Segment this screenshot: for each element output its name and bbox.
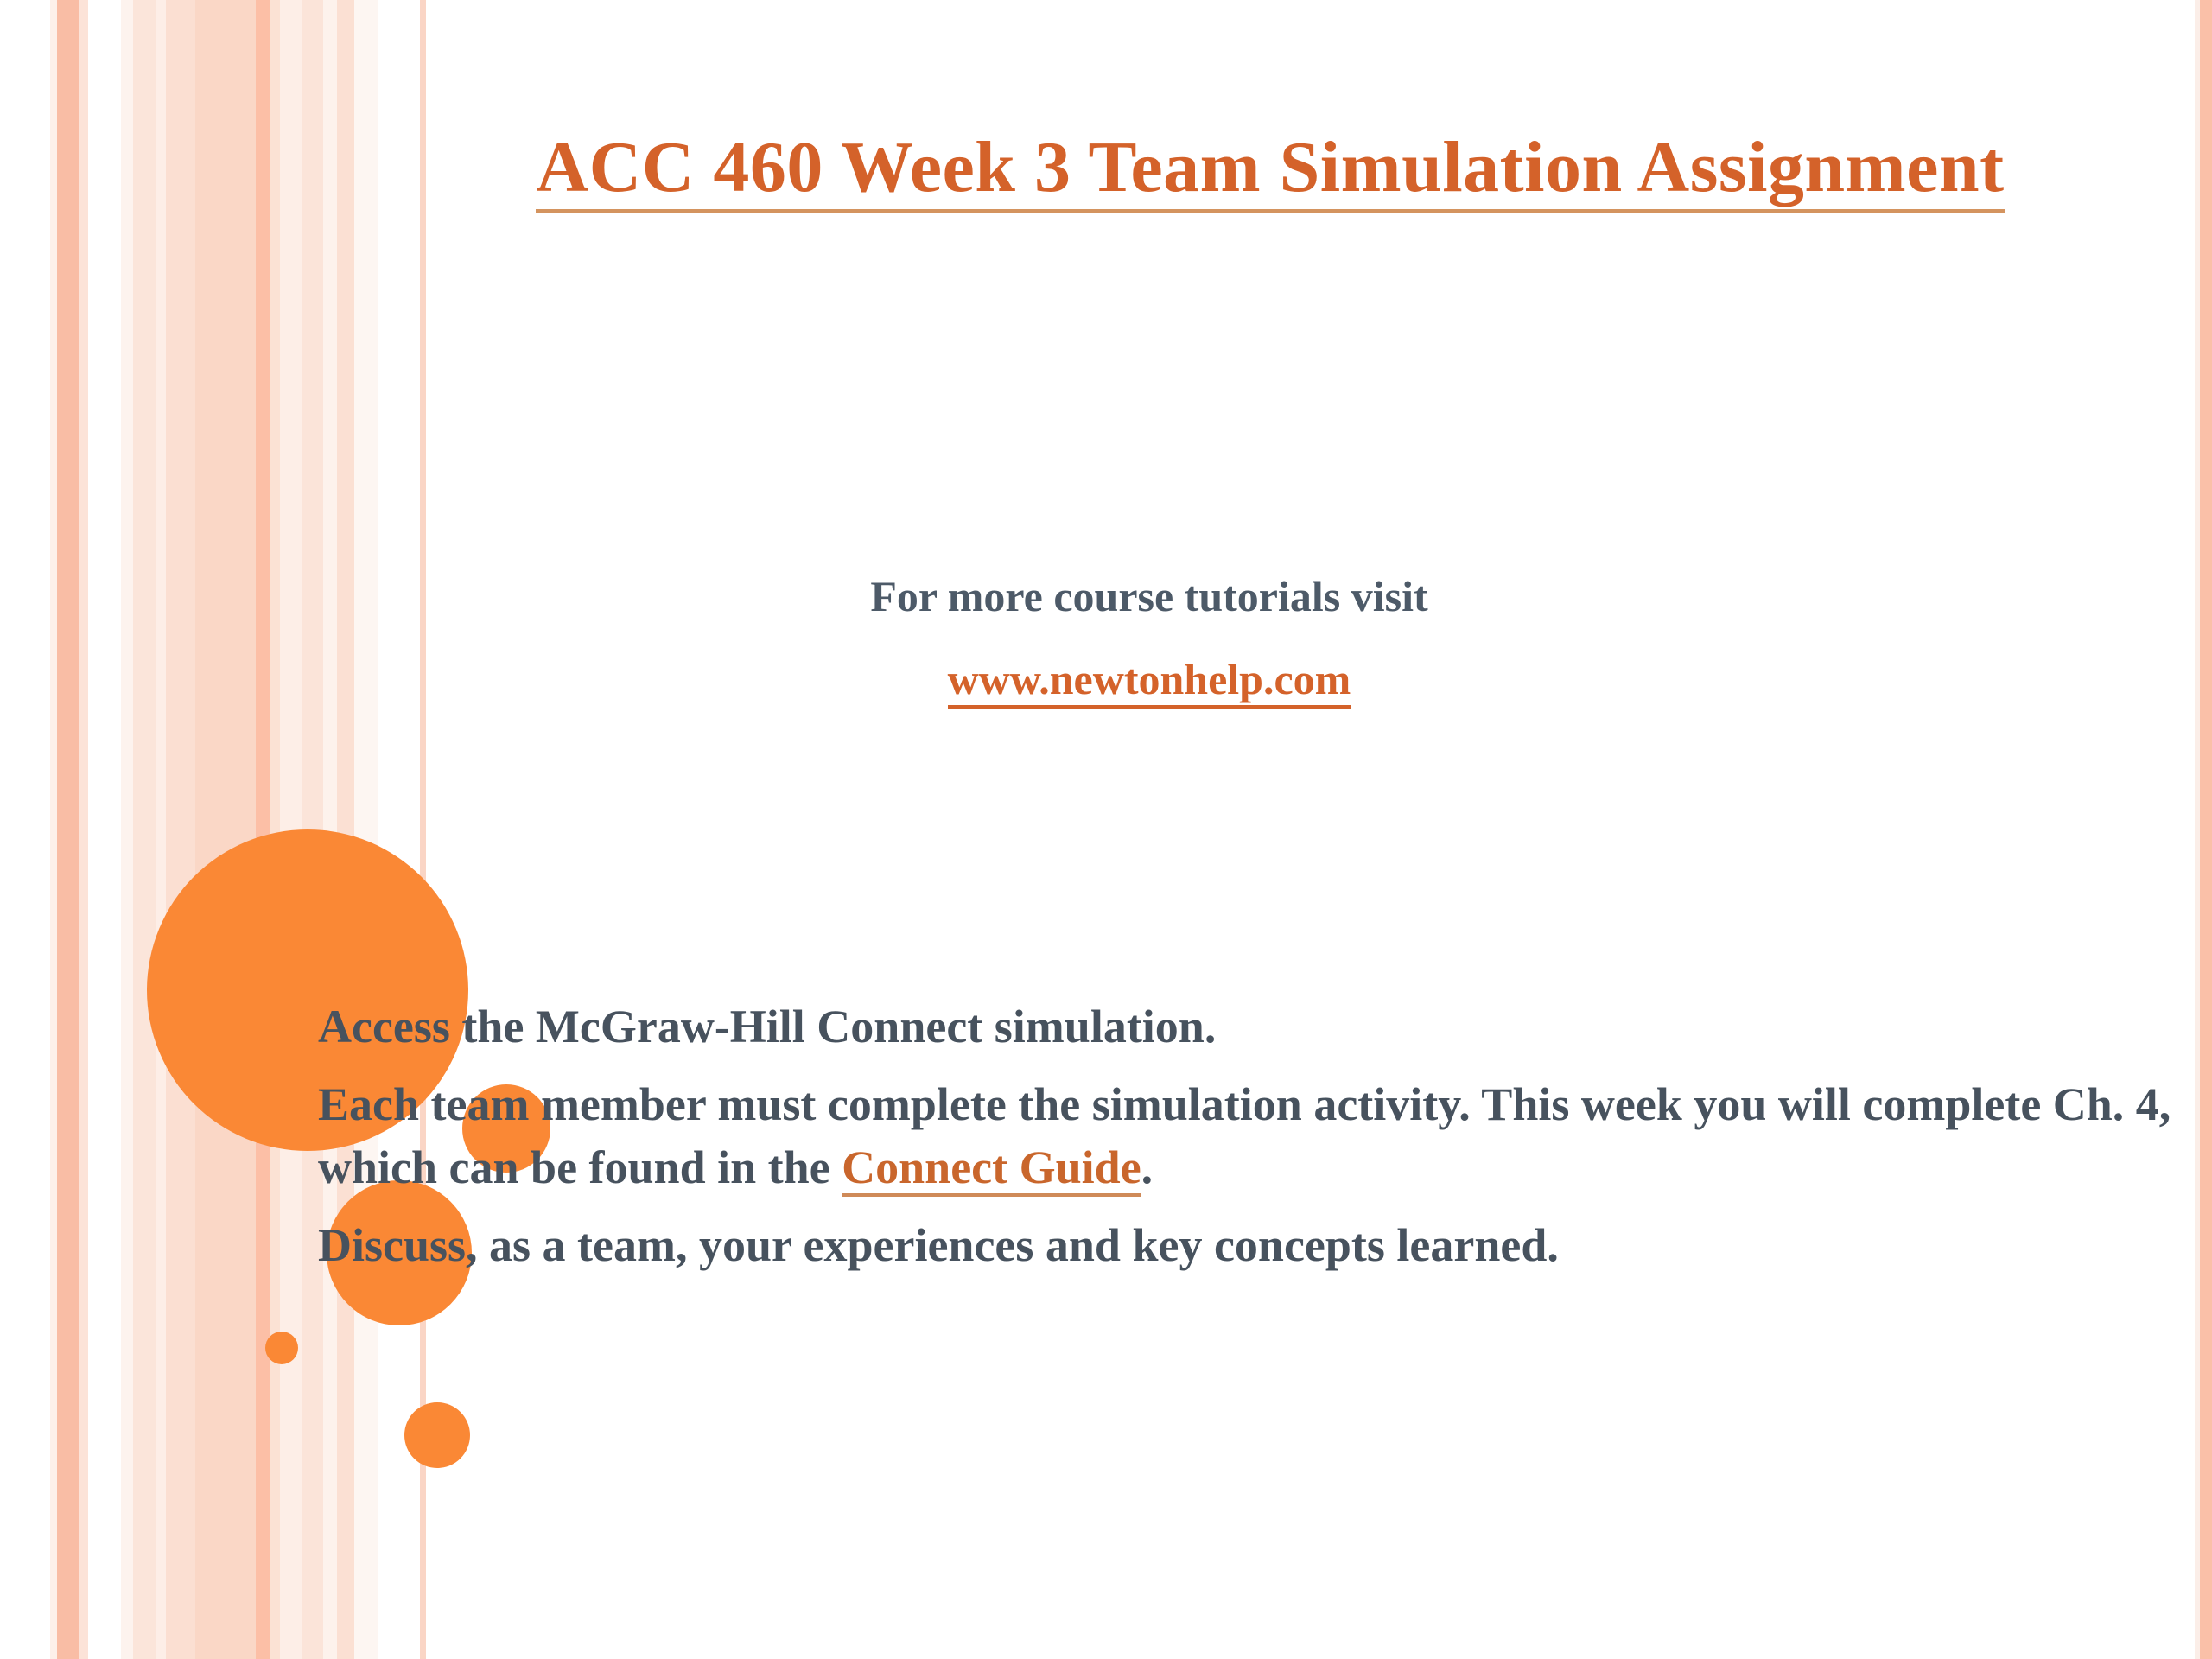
stripe-7 xyxy=(156,0,166,1659)
bullet-each-team-member-text: Each team member must complete the simul… xyxy=(318,1078,2171,1192)
bullet-each-team-member: Each team member must complete the simul… xyxy=(318,1073,2184,1198)
title-container: ACC 460 Week 3 Team Simulation Assignmen… xyxy=(380,130,2160,213)
bullet-access-text: Access the McGraw-Hill Connect simulatio… xyxy=(318,1001,1216,1052)
bullet-list: Access the McGraw-Hill Connect simulatio… xyxy=(318,995,2184,1276)
stripe-15 xyxy=(337,0,354,1659)
stripe-6 xyxy=(133,0,156,1659)
bullet-discuss: Discuss, as a team, your experiences and… xyxy=(318,1214,2184,1276)
stripe-2 xyxy=(57,0,79,1659)
stripe-14 xyxy=(323,0,337,1659)
slide-canvas: ACC 460 Week 3 Team Simulation Assignmen… xyxy=(0,0,2212,1659)
bullet-each-team-member-text-after: . xyxy=(1141,1141,1154,1193)
tagline-text: For more course tutorials visit xyxy=(380,570,1918,622)
stripe-8 xyxy=(166,0,195,1659)
stripe-16 xyxy=(354,0,378,1659)
stripe-5 xyxy=(121,0,133,1659)
stripe-3 xyxy=(79,0,88,1659)
tagline-container: For more course tutorials visit www.newt… xyxy=(380,570,1918,709)
page-title: ACC 460 Week 3 Team Simulation Assignmen… xyxy=(536,130,2004,213)
circle-dot xyxy=(265,1332,298,1364)
stripe-4 xyxy=(88,0,121,1659)
stripe-10 xyxy=(256,0,270,1659)
circle-small xyxy=(404,1402,470,1468)
connect-guide-link[interactable]: Connect Guide xyxy=(842,1141,1141,1197)
bullet-access: Access the McGraw-Hill Connect simulatio… xyxy=(318,995,2184,1058)
newtonhelp-site-link[interactable]: www.newtonhelp.com xyxy=(948,655,1351,709)
stripe-11 xyxy=(270,0,280,1659)
edge-stripe-main xyxy=(2200,0,2212,1659)
left-stripe-decoration xyxy=(0,0,432,1659)
stripe-9 xyxy=(195,0,256,1659)
stripe-1 xyxy=(50,0,57,1659)
bullet-discuss-text: Discuss, as a team, your experiences and… xyxy=(318,1219,1559,1271)
